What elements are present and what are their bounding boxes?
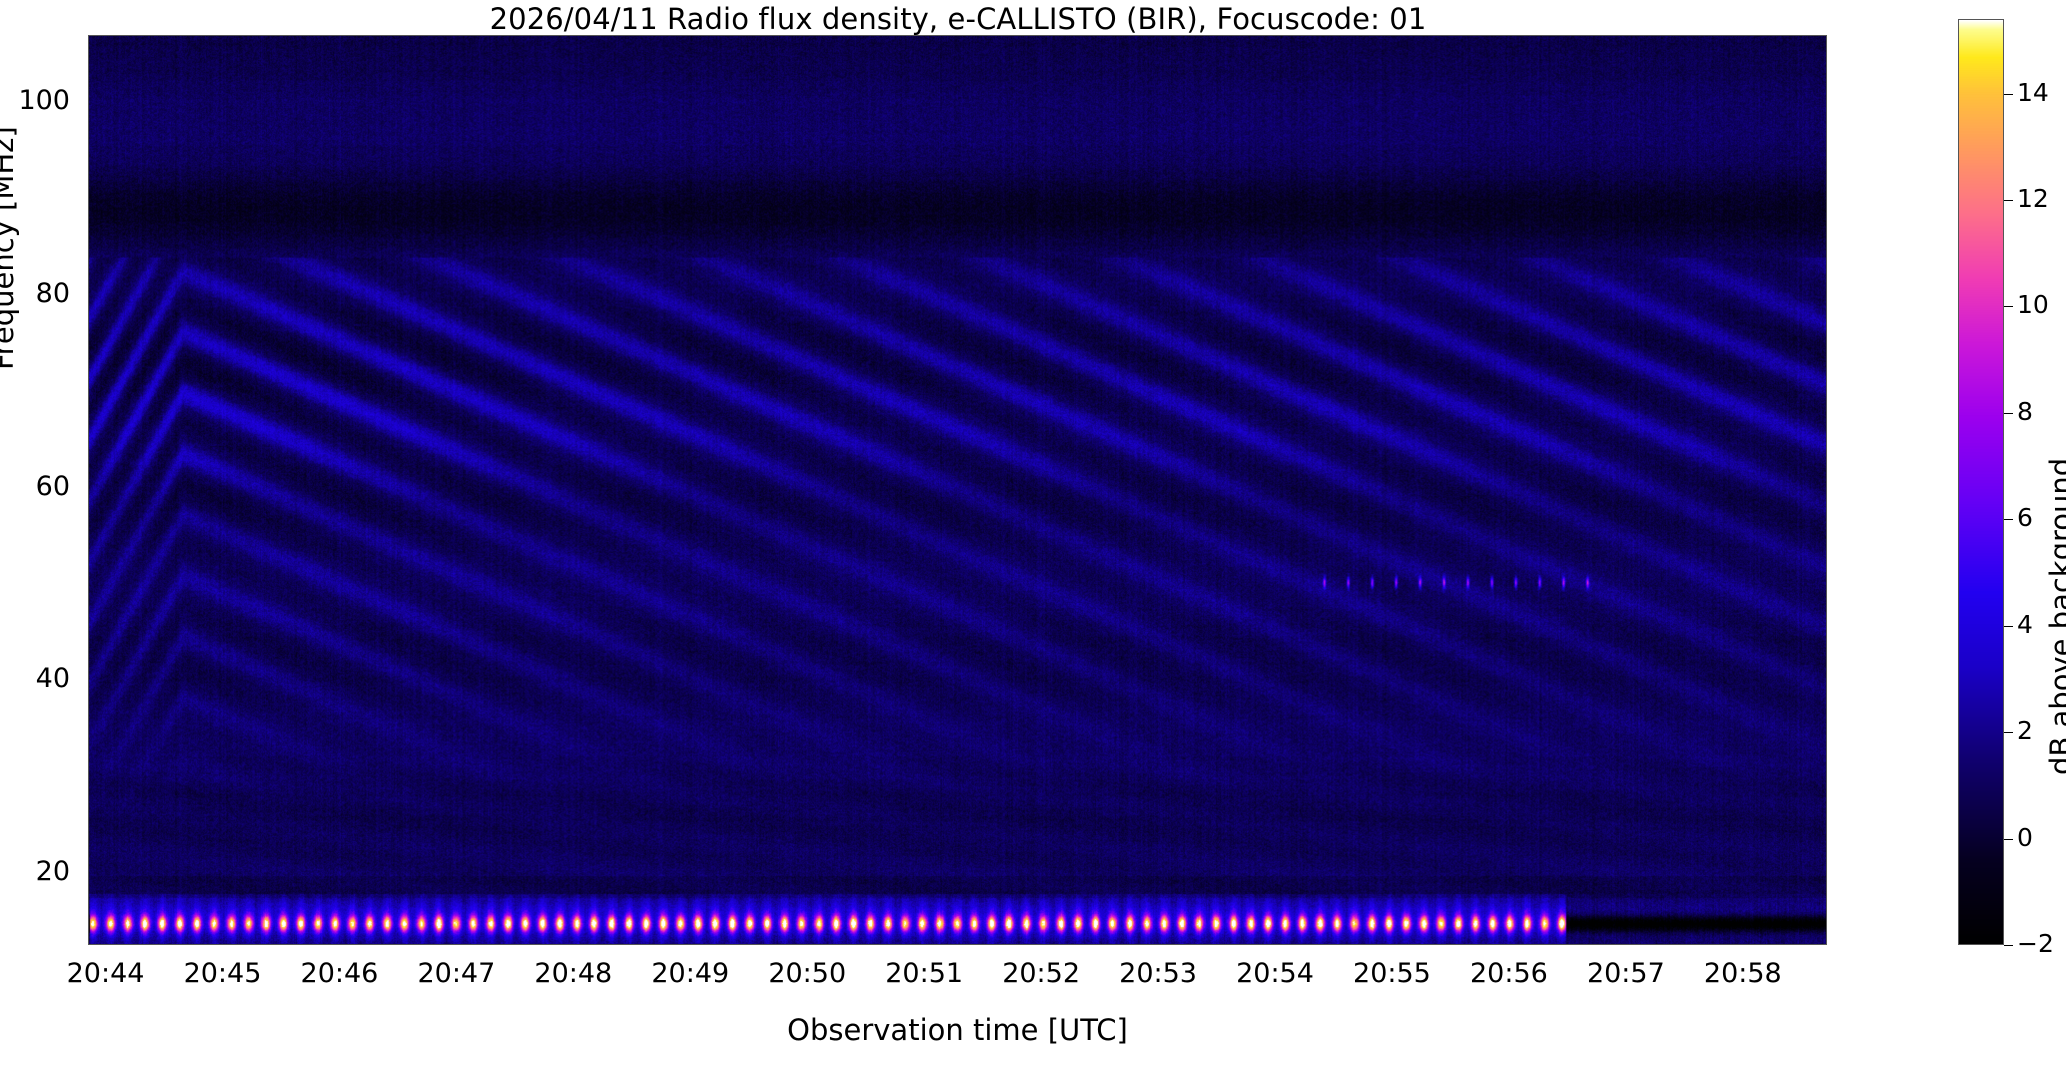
x-axis-tick: [691, 944, 692, 945]
colorbar-tick-label: 4: [2017, 610, 2033, 639]
spectrogram-figure: 2026/04/11 Radio flux density, e-CALLIST…: [0, 0, 2066, 1067]
x-axis-tick: [808, 944, 809, 945]
colorbar-tick-label: 2: [2017, 716, 2033, 745]
x-axis-tick: [1510, 944, 1511, 945]
y-axis-tick-label: 20: [0, 856, 70, 887]
colorbar-tick-label: 14: [2017, 78, 2049, 107]
x-axis-tick: [457, 944, 458, 945]
x-axis-tick: [340, 944, 341, 945]
x-axis-tick: [574, 944, 575, 945]
spectrogram-image: [89, 36, 1826, 944]
x-axis-tick-label: 20:58: [1673, 958, 1813, 989]
colorbar-tick: [2004, 519, 2013, 520]
colorbar-gradient: [1958, 19, 2004, 945]
colorbar-tick: [2004, 732, 2013, 733]
colorbar-tick-label: 10: [2017, 290, 2049, 319]
y-axis-tick: [88, 103, 89, 104]
colorbar-image: [1959, 20, 2003, 944]
colorbar: −202468101214: [1958, 19, 2004, 945]
colorbar-tick: [2004, 839, 2013, 840]
y-axis-tick: [88, 296, 89, 297]
y-axis-tick-label: 60: [0, 471, 70, 502]
x-axis-tick: [223, 944, 224, 945]
page-title: 2026/04/11 Radio flux density, e-CALLIST…: [88, 2, 1828, 36]
colorbar-label: dB above background: [2044, 458, 2066, 775]
colorbar-tick: [2004, 626, 2013, 627]
colorbar-tick: [2004, 945, 2013, 946]
colorbar-tick-label: 0: [2017, 823, 2033, 852]
spectrogram-plot-area: [88, 35, 1827, 945]
x-axis-tick: [107, 944, 108, 945]
y-axis-tick: [88, 874, 89, 875]
colorbar-tick-label: 8: [2017, 397, 2033, 426]
y-axis-tick: [88, 489, 89, 490]
y-axis-tick-label: 40: [0, 663, 70, 694]
x-axis-tick: [1393, 944, 1394, 945]
x-axis-tick: [1744, 944, 1745, 945]
colorbar-tick-label: 6: [2017, 503, 2033, 532]
colorbar-tick: [2004, 200, 2013, 201]
x-axis-tick: [1276, 944, 1277, 945]
y-axis-tick: [88, 681, 89, 682]
y-axis-tick-label: 80: [0, 278, 70, 309]
x-axis-tick: [925, 944, 926, 945]
x-axis-label: Observation time [UTC]: [88, 1013, 1827, 1047]
x-axis-tick: [1042, 944, 1043, 945]
colorbar-tick: [2004, 306, 2013, 307]
colorbar-tick-label: 12: [2017, 184, 2049, 213]
colorbar-tick: [2004, 94, 2013, 95]
colorbar-tick: [2004, 413, 2013, 414]
colorbar-tick-label: −2: [2017, 929, 2054, 958]
x-axis-tick: [1627, 944, 1628, 945]
y-axis-label: Frequency [MHz]: [0, 126, 20, 370]
y-axis-tick-label: 100: [0, 85, 70, 116]
x-axis-tick: [1159, 944, 1160, 945]
